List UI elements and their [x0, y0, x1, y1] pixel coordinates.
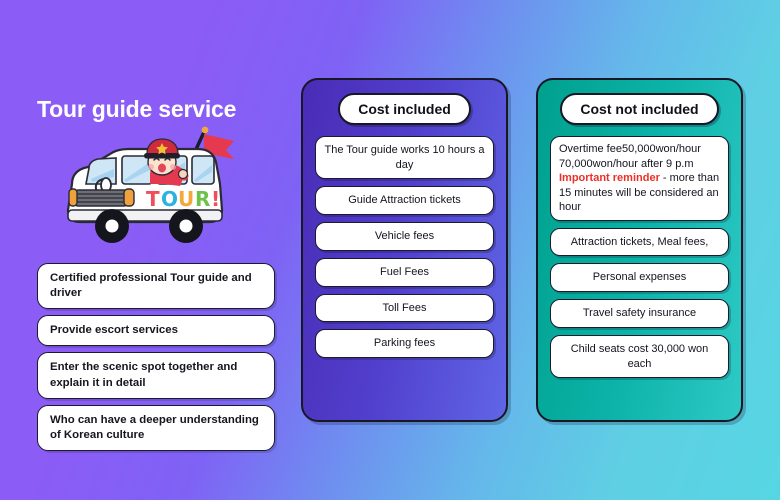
list-item[interactable]: Vehicle fees	[315, 222, 494, 251]
cost-not-included-items: Overtime fee50,000won/hour 70,000won/hou…	[550, 136, 729, 378]
cost-included-panel: Cost included The Tour guide works 10 ho…	[301, 78, 508, 422]
overtime-fee-note[interactable]: Overtime fee50,000won/hour 70,000won/hou…	[550, 136, 729, 221]
list-item[interactable]: Child seats cost 30,000 won each	[550, 335, 729, 378]
overtime-line-1: Overtime fee50,000won/hour	[559, 143, 701, 155]
important-reminder-label: Important reminder	[559, 172, 660, 184]
cost-not-included-panel: Cost not included Overtime fee50,000won/…	[536, 78, 743, 422]
list-item[interactable]: Provide escort services	[37, 315, 275, 346]
cost-included-header: Cost included	[338, 93, 471, 125]
svg-text:R: R	[195, 187, 210, 211]
feature-list: Certified professional Tour guide and dr…	[37, 263, 275, 451]
list-item[interactable]: Certified professional Tour guide and dr…	[37, 263, 275, 309]
list-item[interactable]: Personal expenses	[550, 263, 729, 292]
svg-text:O: O	[161, 187, 178, 211]
svg-text:!: !	[211, 187, 220, 211]
list-item[interactable]: Who can have a deeper understanding of K…	[37, 405, 275, 451]
list-item[interactable]: Guide Attraction tickets	[315, 186, 494, 215]
overtime-line-2: 70,000won/hour after 9 p.m	[559, 158, 694, 170]
list-item[interactable]: Fuel Fees	[315, 258, 494, 287]
list-item[interactable]: Travel safety insurance	[550, 299, 729, 328]
list-item[interactable]: The Tour guide works 10 hours a day	[315, 136, 494, 179]
list-item[interactable]: Toll Fees	[315, 294, 494, 323]
svg-text:U: U	[178, 187, 194, 211]
svg-text:T: T	[146, 187, 160, 211]
cost-not-included-header: Cost not included	[560, 93, 718, 125]
page-title: Tour guide service	[37, 96, 236, 123]
cost-included-items: The Tour guide works 10 hours a day Guid…	[315, 136, 494, 358]
left-column: Tour guide service	[0, 0, 300, 500]
list-item[interactable]: Parking fees	[315, 329, 494, 358]
tour-bus-illustration: T O U R !	[58, 122, 248, 254]
list-item[interactable]: Attraction tickets, Meal fees,	[550, 228, 729, 257]
list-item[interactable]: Enter the scenic spot together and expla…	[37, 352, 275, 398]
